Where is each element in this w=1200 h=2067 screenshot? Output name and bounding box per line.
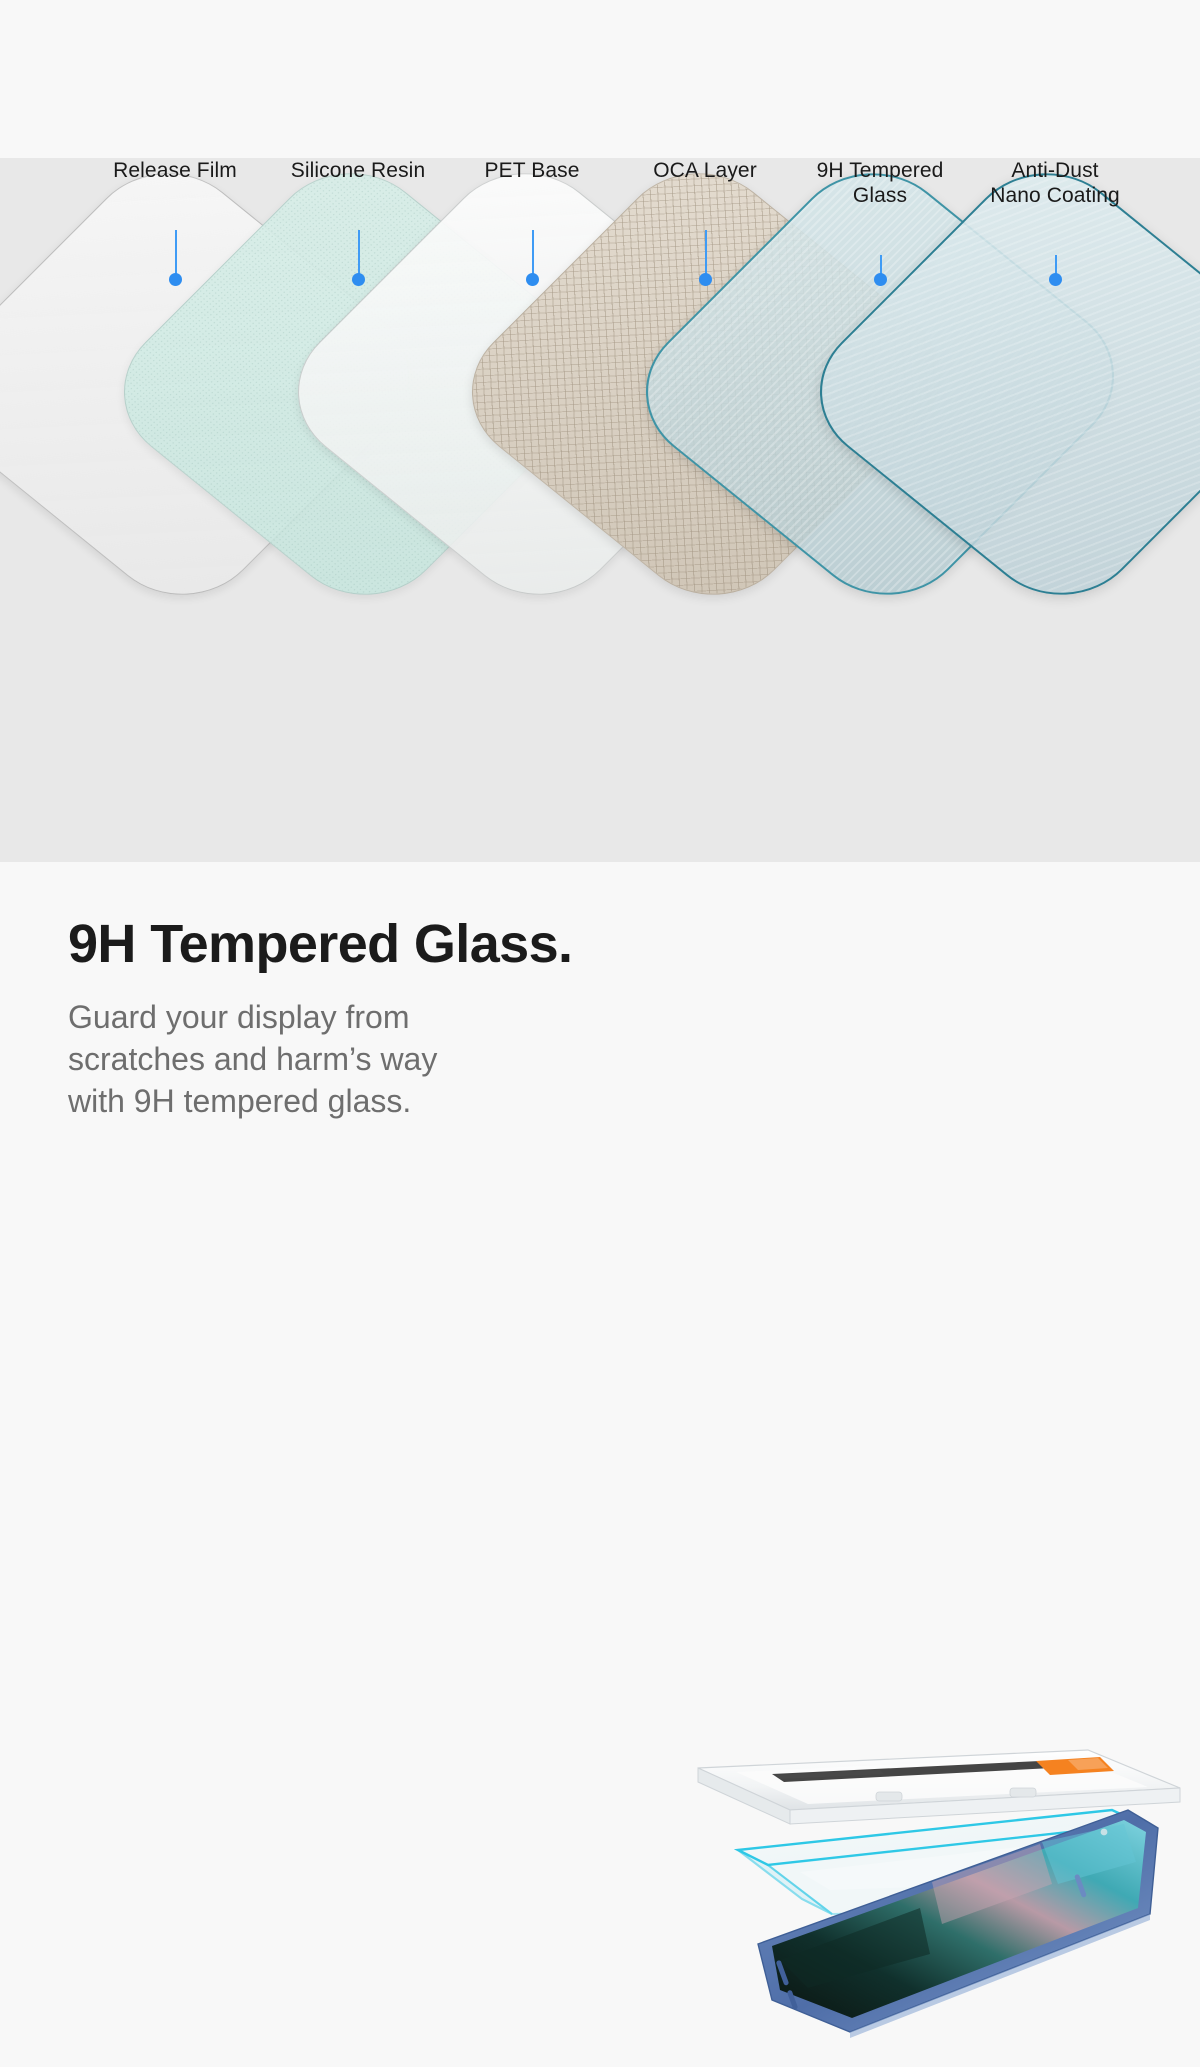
- callout-dot-icon: [169, 273, 182, 286]
- callout-dot-icon: [1049, 273, 1062, 286]
- callout-dot-icon: [526, 273, 539, 286]
- layer-stack: Release Film Silicone Resin PET Base OCA…: [0, 158, 1200, 862]
- subcopy: Guard your display from scratches and ha…: [68, 996, 688, 1122]
- callout-dot-icon: [874, 273, 887, 286]
- headline: 9H Tempered Glass.: [68, 914, 688, 974]
- top-blank-band: [0, 0, 1200, 158]
- callout-dot-icon: [699, 273, 712, 286]
- product-feature-page: Release Film Silicone Resin PET Base OCA…: [0, 0, 1200, 1200]
- callout-dot-icon: [352, 273, 365, 286]
- callout-label: Anti-Dust Nano Coating: [945, 158, 1165, 208]
- front-camera-icon: [1101, 1829, 1108, 1836]
- feature-copy-section: 9H Tempered Glass. Guard your display fr…: [0, 862, 1200, 1200]
- product-illustration: [680, 1732, 1200, 2062]
- copy-block: 9H Tempered Glass. Guard your display fr…: [68, 914, 688, 1122]
- product-photo: [680, 1732, 1200, 2062]
- exploded-layer-diagram: Release Film Silicone Resin PET Base OCA…: [0, 158, 1200, 862]
- callout-anti-dust-nano-coating: Anti-Dust Nano Coating: [945, 158, 1165, 208]
